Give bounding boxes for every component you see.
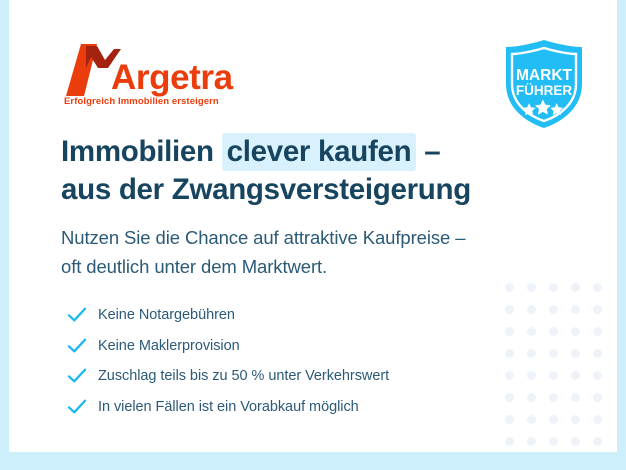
grid-dot [505, 283, 514, 292]
grid-dot [549, 283, 558, 292]
check-icon [65, 365, 89, 387]
grid-dot [593, 415, 602, 424]
page-title: Immobilien clever kaufen – aus der Zwang… [61, 133, 501, 209]
grid-dot [505, 437, 514, 446]
check-icon [65, 396, 89, 418]
grid-dot [593, 371, 602, 380]
grid-dot [593, 305, 602, 314]
headline-suffix: – [416, 135, 440, 168]
badge-line-2: FÜHRER [516, 83, 572, 98]
grid-dot [593, 349, 602, 358]
ad-banner: Argetra Erfolgreich Immobilien ersteiger… [0, 0, 626, 470]
grid-dot [593, 437, 602, 446]
grid-dot [549, 349, 558, 358]
subtitle-line-1: Nutzen Sie die Chance auf attraktive Kau… [61, 224, 531, 253]
headline-line-2: aus der Zwangsversteigerung [61, 171, 501, 209]
list-item: In vielen Fällen ist ein Vorabkauf mögli… [65, 392, 535, 423]
grid-dot [549, 393, 558, 402]
headline-prefix: Immobilien [61, 135, 222, 168]
grid-dot [549, 437, 558, 446]
subtitle-line-2: oft deutlich unter dem Marktwert. [61, 253, 531, 282]
grid-dot [549, 371, 558, 380]
list-item-label: In vielen Fällen ist ein Vorabkauf mögli… [98, 399, 359, 415]
grid-dot [549, 415, 558, 424]
grid-dot [571, 415, 580, 424]
argetra-logo[interactable]: Argetra Erfolgreich Immobilien ersteiger… [64, 44, 264, 112]
markt-fuehrer-badge: MARKT FÜHRER [496, 36, 592, 132]
check-icon [65, 335, 89, 357]
grid-dot [549, 327, 558, 336]
grid-dot [571, 349, 580, 358]
grid-dot [549, 305, 558, 314]
list-item: Zuschlag teils bis zu 50 % unter Verkehr… [65, 361, 535, 392]
list-item: Keine Maklerprovision [65, 331, 535, 362]
list-item: Keine Notargebühren [65, 300, 535, 331]
benefits-list: Keine Notargebühren Keine Maklerprovisio… [65, 300, 535, 422]
logo-tagline: Erfolgreich Immobilien ersteigern [64, 96, 219, 107]
grid-dot [593, 393, 602, 402]
subtitle: Nutzen Sie die Chance auf attraktive Kau… [61, 224, 531, 281]
grid-dot [527, 437, 536, 446]
list-item-label: Zuschlag teils bis zu 50 % unter Verkehr… [98, 368, 389, 384]
grid-dot [527, 283, 536, 292]
shield-badge-icon: MARKT FÜHRER [496, 36, 592, 132]
grid-dot [571, 371, 580, 380]
headline-line-1: Immobilien clever kaufen – [61, 133, 501, 171]
logo-wordmark: Argetra [111, 60, 233, 95]
list-item-label: Keine Notargebühren [98, 307, 235, 323]
grid-dot [571, 305, 580, 314]
grid-dot [571, 393, 580, 402]
grid-dot [593, 283, 602, 292]
grid-dot [571, 437, 580, 446]
badge-line-1: MARKT [516, 67, 572, 84]
list-item-label: Keine Maklerprovision [98, 338, 240, 354]
grid-dot [571, 327, 580, 336]
headline-highlight: clever kaufen [222, 133, 417, 171]
grid-dot [571, 283, 580, 292]
check-icon [65, 304, 89, 326]
grid-dot [593, 327, 602, 336]
ad-card: Argetra Erfolgreich Immobilien ersteiger… [9, 0, 617, 452]
